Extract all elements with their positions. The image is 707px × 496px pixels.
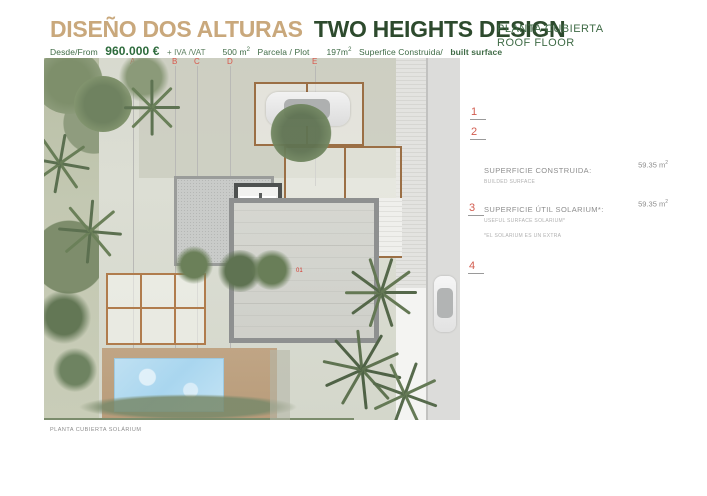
- side-marker-label: 3: [469, 202, 475, 214]
- grid-letter-c: C: [194, 58, 200, 66]
- spec-row-built-surface: SUPERFICIE CONSTRUIDA: 59.35 m2 BUILDED …: [484, 160, 684, 185]
- built-area-value: 197m: [326, 47, 348, 57]
- floor-label-es: PLANTA CUBIERTA: [497, 22, 677, 36]
- page-title: DISEÑO DOS ALTURAS TWO HEIGHTS DESIGN: [50, 16, 565, 43]
- plot-area-value: 500 m: [223, 47, 247, 57]
- plan-tree: [250, 250, 294, 290]
- spec-title: SUPERFICIE ÚTIL SOLARIUM*:: [484, 205, 604, 214]
- side-marker-label: 1: [471, 106, 477, 118]
- roof-floor-plan-drawing: A B C D E 01: [44, 58, 460, 420]
- plan-palm-tree: [44, 132, 90, 192]
- grid-letter-e: E: [312, 58, 317, 66]
- side-marker-rule: [468, 273, 484, 274]
- plan-palm-tree: [344, 254, 418, 328]
- spec-footnote: *EL SOLARIUM ES UN EXTRA: [484, 233, 684, 239]
- side-marker-rule: [470, 119, 486, 120]
- side-marker-rule: [470, 139, 486, 140]
- plan-palm-tree: [58, 198, 122, 262]
- spec-value: 59.35 m2: [638, 199, 668, 209]
- spec-subtitle: BUILDED SURFACE: [484, 179, 684, 185]
- side-marker-1: 1: [471, 106, 486, 120]
- plan-left-pergola-beam-2: [174, 273, 176, 345]
- page-title-es: DISEÑO DOS ALTURAS: [50, 16, 303, 42]
- spec-row-solarium-surface: SUPERFICIE ÚTIL SOLARIUM*: 59.35 m2 USEF…: [484, 199, 684, 224]
- plan-left-pergola-beam-1: [140, 273, 142, 345]
- surface-spec-block: SUPERFICIE CONSTRUIDA: 59.35 m2 BUILDED …: [484, 160, 684, 239]
- price-prefix: Desde/From: [50, 47, 98, 57]
- side-marker-label: 4: [469, 260, 475, 272]
- floor-label-en: ROOF FLOOR: [497, 36, 677, 50]
- side-marker-rule: [468, 215, 484, 216]
- plan-room-code-01: 01: [296, 268, 303, 274]
- plan-tree: [270, 104, 332, 162]
- side-marker-2: 2: [471, 126, 486, 140]
- side-marker-4: 4: [469, 260, 484, 274]
- plot-area-unit-sup: 2: [247, 47, 250, 53]
- spec-title: SUPERFICIE CONSTRUIDA:: [484, 166, 592, 175]
- plan-palm-tree: [370, 358, 440, 420]
- plan-left-pergola-beam-3: [106, 307, 206, 309]
- grid-letter-d: D: [227, 58, 233, 66]
- plan-caption: PLANTA CUBIERTA SOLÁRIUM: [50, 427, 141, 433]
- plan-path: [270, 350, 290, 420]
- grid-letter-b: B: [172, 58, 177, 66]
- built-area-label-en: built surface: [450, 47, 502, 57]
- spec-value: 59.35 m2: [638, 160, 668, 170]
- floor-label: PLANTA CUBIERTA ROOF FLOOR: [497, 22, 677, 50]
- side-marker-3: 3: [469, 202, 484, 216]
- plan-tree: [52, 348, 98, 392]
- plan-palm-tree: [122, 76, 182, 136]
- plan-tree: [174, 246, 214, 284]
- page-root: DISEÑO DOS ALTURAS TWO HEIGHTS DESIGN De…: [0, 0, 707, 496]
- plan-hedge-band: [78, 394, 298, 420]
- price-value: 960.000 €: [105, 44, 159, 58]
- page-subtitle: Desde/From 960.000 € + IVA /VAT 500 m2 P…: [50, 44, 502, 58]
- built-area-label-es: Superfice Construida/: [359, 47, 443, 57]
- plan-car-street-cabin: [437, 288, 453, 318]
- side-marker-label: 2: [471, 126, 477, 138]
- vat-label: + IVA /VAT: [167, 48, 206, 57]
- built-area-unit-sup: 2: [348, 47, 351, 53]
- plot-area-label: Parcela / Plot: [258, 47, 310, 57]
- spec-subtitle: USEFUL SURFACE SOLARIUM*: [484, 218, 684, 224]
